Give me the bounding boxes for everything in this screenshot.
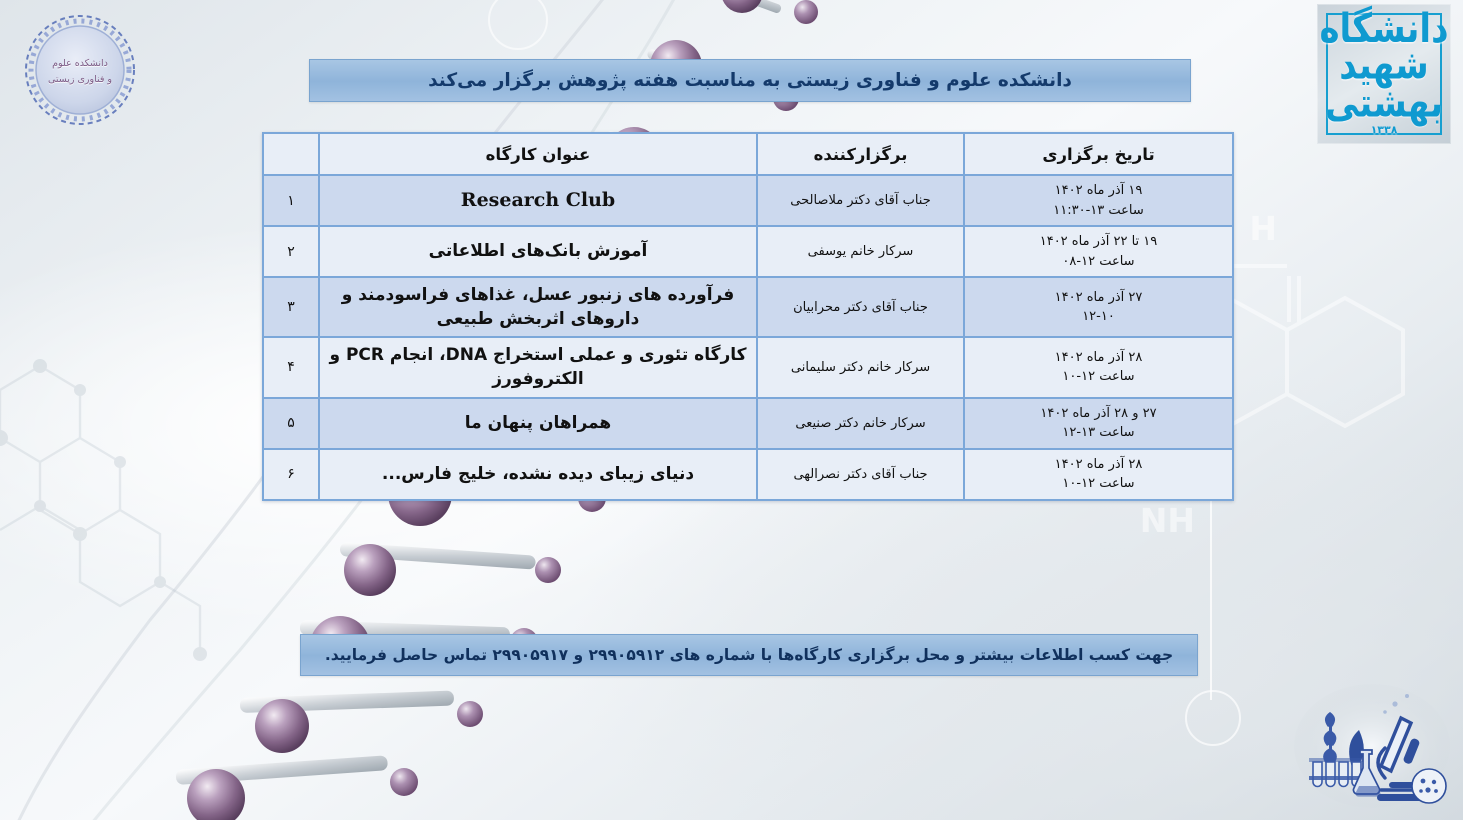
- university-logo-year: ۱۳۳۸: [1319, 125, 1448, 135]
- workshops-table: تاریخ برگزاری برگزارکننده عنوان کارگاه ۱…: [262, 132, 1234, 501]
- cell-date-line1: ۱۹ تا ۲۲ آذر ماه ۱۴۰۲: [973, 232, 1224, 252]
- table-body: ۱۹ آذر ماه ۱۴۰۲ساعت ۱۳-۱۱:۳۰جناب آقای دک…: [263, 175, 1233, 500]
- cell-date-line1: ۲۸ آذر ماه ۱۴۰۲: [973, 348, 1224, 368]
- column-header-index: [263, 133, 319, 175]
- cell-date-line1: ۱۹ آذر ماه ۱۴۰۲: [973, 181, 1224, 201]
- cell-date: ۲۸ آذر ماه ۱۴۰۲ساعت ۱۲-۱۰: [964, 337, 1233, 397]
- cell-date: ۱۹ تا ۲۲ آذر ماه ۱۴۰۲ساعت ۱۲-۰۸: [964, 226, 1233, 277]
- faculty-seal-line1: دانشکده علوم: [52, 58, 108, 69]
- cell-date-line1: ۲۸ آذر ماه ۱۴۰۲: [973, 455, 1224, 475]
- cell-host: سرکار خانم یوسفی: [757, 226, 964, 277]
- cell-workshop-title: همراهان پنهان ما: [319, 398, 757, 449]
- cell-row-number: ۶: [263, 449, 319, 500]
- cell-host: سرکار خانم دکتر صنیعی: [757, 398, 964, 449]
- cell-date: ۲۷ آذر ماه ۱۴۰۲۱۲-۱۰: [964, 277, 1233, 337]
- faculty-seal-logo: دانشکده علوم و فناوری زیستی: [14, 12, 146, 130]
- column-header-title: عنوان کارگاه: [319, 133, 757, 175]
- cell-host: جناب آقای دکتر نصرالهی: [757, 449, 964, 500]
- contact-banner: جهت کسب اطلاعات بیشتر و محل برگزاری کارگ…: [300, 634, 1198, 676]
- table-row: ۱۹ تا ۲۲ آذر ماه ۱۴۰۲ساعت ۱۲-۰۸سرکار خان…: [263, 226, 1233, 277]
- chem-label-h: H: [1249, 209, 1277, 248]
- cell-host: جناب آقای دکتر ملاصالحی: [757, 175, 964, 226]
- cell-row-number: ۵: [263, 398, 319, 449]
- table-row: ۲۸ آذر ماه ۱۴۰۲ساعت ۱۲-۱۰جناب آقای دکتر …: [263, 449, 1233, 500]
- column-header-host: برگزارکننده: [757, 133, 964, 175]
- cell-row-number: ۴: [263, 337, 319, 397]
- cell-row-number: ۲: [263, 226, 319, 277]
- table-row: ۲۸ آذر ماه ۱۴۰۲ساعت ۱۲-۱۰سرکار خانم دکتر…: [263, 337, 1233, 397]
- cell-workshop-title: آموزش بانک‌های اطلاعاتی: [319, 226, 757, 277]
- page-title: دانشکده علوم و فناوری زیستی به مناسبت هف…: [428, 70, 1072, 91]
- table-header-row: تاریخ برگزاری برگزارکننده عنوان کارگاه: [263, 133, 1233, 175]
- decorative-circle-bottom: [1185, 690, 1241, 746]
- poster-canvas: CH 3 H NH: [0, 0, 1463, 820]
- faculty-seal-line2: و فناوری زیستی: [48, 74, 112, 85]
- table-row: ۲۷ و ۲۸ آذر ماه ۱۴۰۲ساعت ۱۳-۱۲سرکار خانم…: [263, 398, 1233, 449]
- cell-workshop-title: کارگاه تئوری و عملی استخراج DNA، انجام P…: [319, 337, 757, 397]
- cell-date-line2: ساعت ۱۲-۱۰: [973, 474, 1224, 494]
- cell-date-line1: ۲۷ آذر ماه ۱۴۰۲: [973, 288, 1224, 308]
- cell-workshop-title: فرآورده های زنبور عسل، غذاهای فراسودمند …: [319, 277, 757, 337]
- table-row: ۲۷ آذر ماه ۱۴۰۲۱۲-۱۰جناب آقای دکتر محراب…: [263, 277, 1233, 337]
- cell-date-line2: ساعت ۱۲-۰۸: [973, 252, 1224, 272]
- cell-workshop-title: دنیای زیبای دیده نشده، خلیج فارس...: [319, 449, 757, 500]
- university-logo-name: دانشگاه شهید بهشتی: [1319, 6, 1448, 127]
- cell-date-line2: ۱۲-۱۰: [973, 307, 1224, 327]
- cell-workshop-title: Research Club: [319, 175, 757, 226]
- contact-note: جهت کسب اطلاعات بیشتر و محل برگزاری کارگ…: [325, 646, 1173, 664]
- cell-date-line2: ساعت ۱۳-۱۲: [973, 423, 1224, 443]
- university-logo-frame: دانشگاه شهید بهشتی ۱۳۳۸: [1326, 13, 1442, 135]
- cell-date-line2: ساعت ۱۲-۱۰: [973, 367, 1224, 387]
- cell-date: ۲۸ آذر ماه ۱۴۰۲ساعت ۱۲-۱۰: [964, 449, 1233, 500]
- university-logo: دانشگاه شهید بهشتی ۱۳۳۸: [1317, 4, 1451, 144]
- title-banner: دانشکده علوم و فناوری زیستی به مناسبت هف…: [309, 59, 1191, 102]
- cell-host: جناب آقای دکتر محرابیان: [757, 277, 964, 337]
- column-header-date: تاریخ برگزاری: [964, 133, 1233, 175]
- cell-row-number: ۱: [263, 175, 319, 226]
- cell-host: سرکار خانم دکتر سلیمانی: [757, 337, 964, 397]
- cell-date: ۲۷ و ۲۸ آذر ماه ۱۴۰۲ساعت ۱۳-۱۲: [964, 398, 1233, 449]
- cell-row-number: ۳: [263, 277, 319, 337]
- chem-label-nh: NH: [1140, 501, 1195, 540]
- cell-date-line2: ساعت ۱۳-۱۱:۳۰: [973, 201, 1224, 221]
- cell-date-line1: ۲۷ و ۲۸ آذر ماه ۱۴۰۲: [973, 404, 1224, 424]
- lab-research-logo: [1289, 678, 1455, 814]
- cell-date: ۱۹ آذر ماه ۱۴۰۲ساعت ۱۳-۱۱:۳۰: [964, 175, 1233, 226]
- university-logo-script: دانشگاه شهید بهشتی ۱۳۳۸: [1319, 12, 1448, 137]
- faculty-seal-text: دانشکده علوم و فناوری زیستی: [14, 12, 146, 130]
- table-row: ۱۹ آذر ماه ۱۴۰۲ساعت ۱۳-۱۱:۳۰جناب آقای دک…: [263, 175, 1233, 226]
